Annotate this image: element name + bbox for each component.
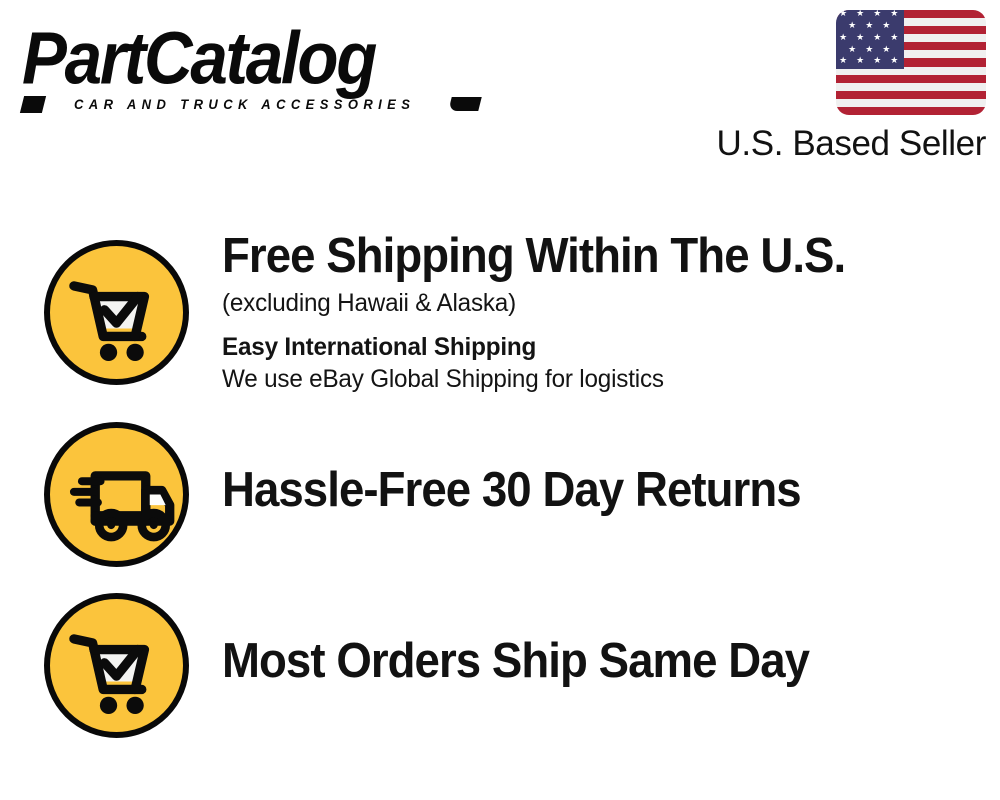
feature-headline: Free Shipping Within The U.S. [222,232,927,282]
feature-subline-international-detail: We use eBay Global Shipping for logistic… [222,363,957,395]
feature-text-returns: Hassle-Free 30 Day Returns [222,466,980,516]
feature-row-same-day: Most Orders Ship Same Day [0,593,1000,743]
feature-row-free-shipping: Free Shipping Within The U.S. (excluding… [0,232,1000,412]
shopping-cart-check-icon [44,240,189,385]
shopping-cart-check-icon [44,593,189,738]
feature-list: Free Shipping Within The U.S. (excluding… [0,0,1000,800]
feature-subline-international-title: Easy International Shipping [222,331,957,363]
feature-text-free-shipping: Free Shipping Within The U.S. (excluding… [222,232,980,395]
feature-subline-exclusions: (excluding Hawaii & Alaska) [222,287,957,319]
delivery-truck-icon [44,422,189,567]
feature-headline: Hassle-Free 30 Day Returns [222,466,927,516]
feature-text-same-day: Most Orders Ship Same Day [222,637,980,687]
feature-headline: Most Orders Ship Same Day [222,637,927,687]
feature-row-returns: Hassle-Free 30 Day Returns [0,422,1000,572]
